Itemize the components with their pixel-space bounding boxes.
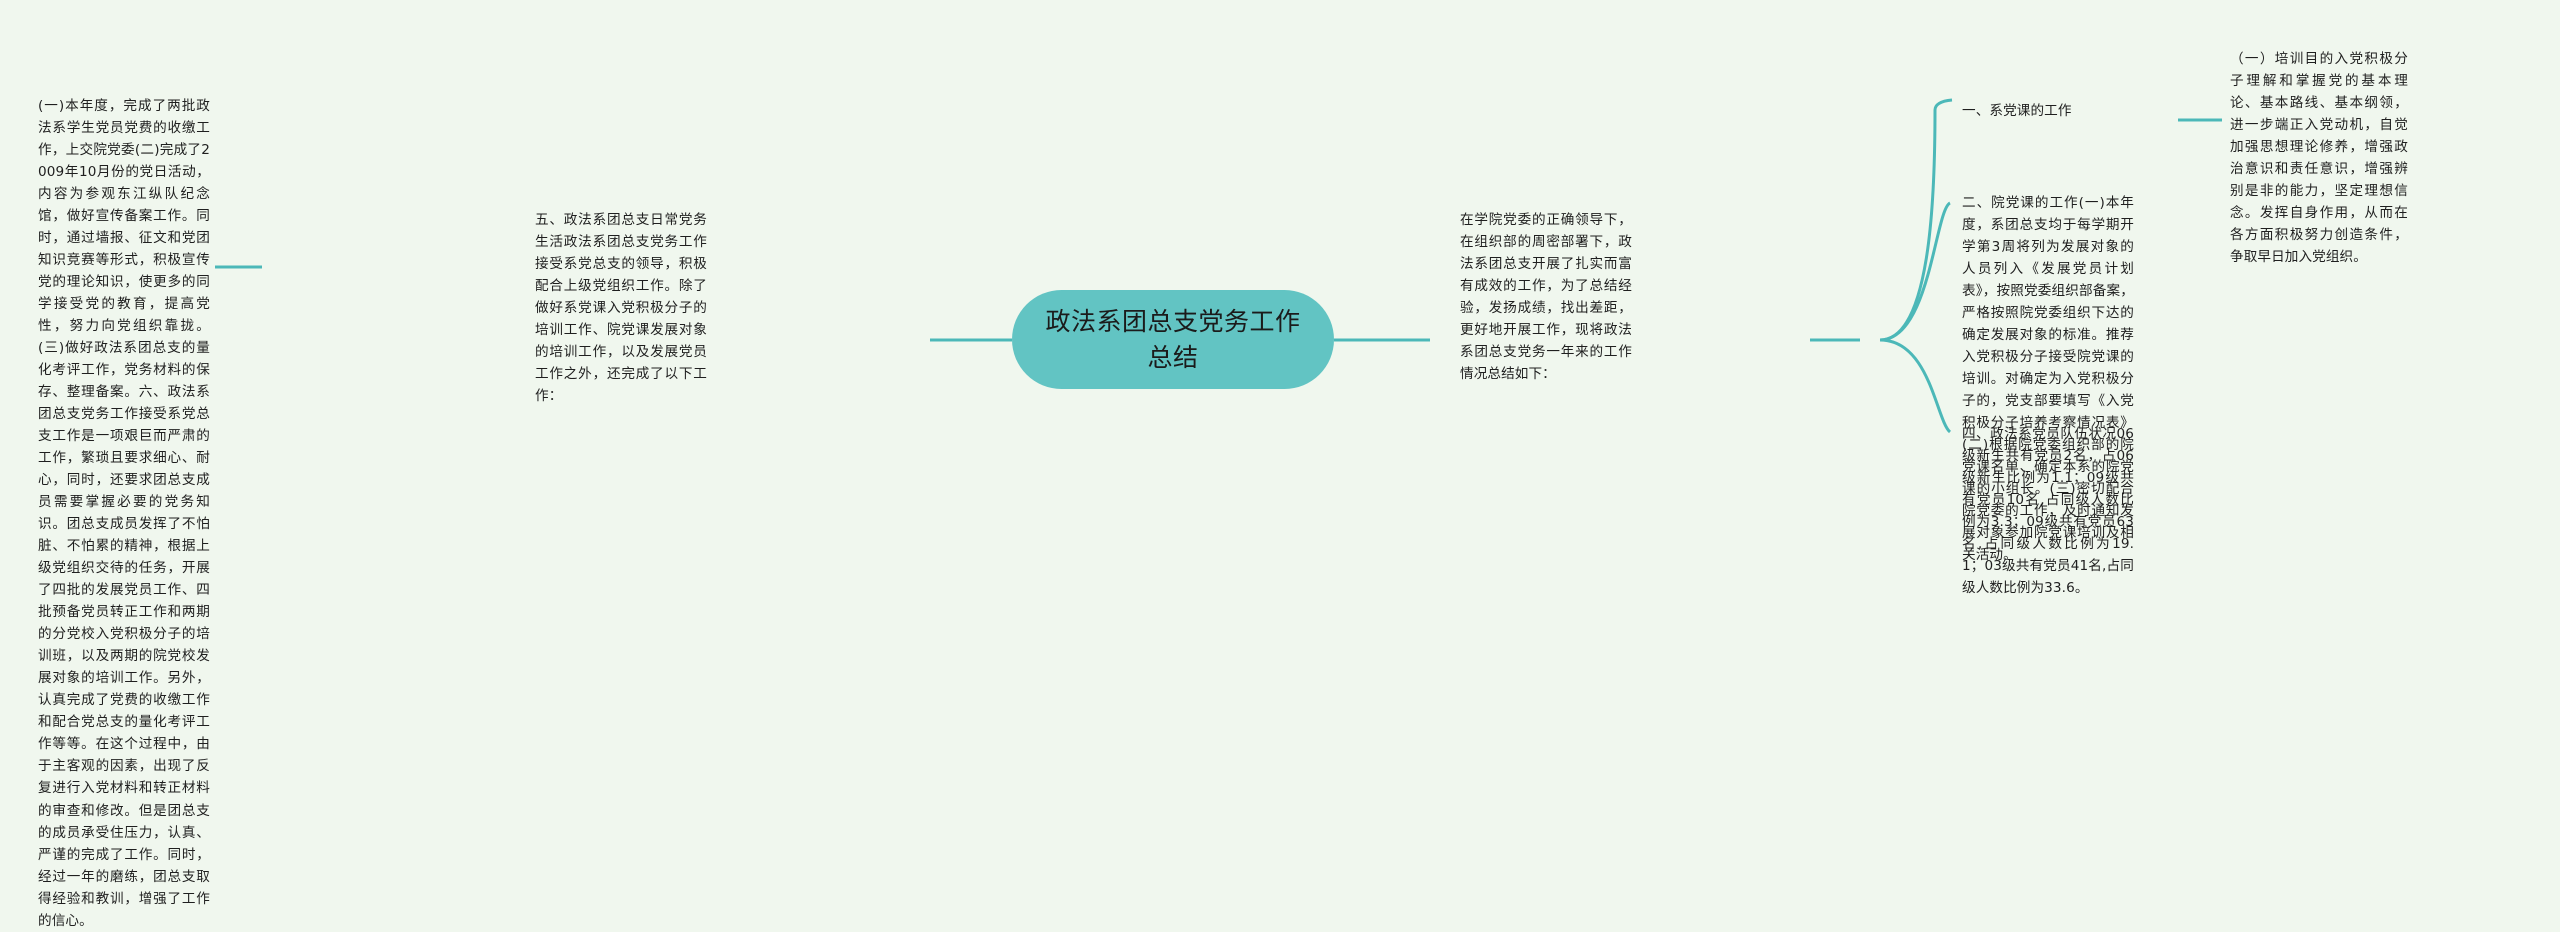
mindmap-canvas: 政法系团总支党务工作总结 (一)本年度，完成了两批政法系学生党员党费的收缴工作，…: [0, 0, 2560, 679]
center-node-label: 政法系团总支党务工作总结: [1038, 304, 1308, 375]
center-node[interactable]: 政法系团总支党务工作总结: [1012, 290, 1334, 389]
branch-curve-right-3: [1880, 203, 1950, 340]
branch-curve-right-1: [1880, 110, 1935, 340]
branch-text-left-outer[interactable]: (一)本年度，完成了两批政法系学生党员党费的收缴工作，上交院党委(二)完成了20…: [38, 95, 210, 932]
branch-curve-right-4: [1880, 340, 1950, 432]
branch-text-right-inner[interactable]: 在学院党委的正确领导下，在组织部的周密部署下，政法系团总支开展了扎实而富有成效的…: [1460, 209, 1632, 385]
branch-curve-right-2: [1935, 100, 1952, 110]
branch-text-right-outer[interactable]: （一）培训目的入党积极分子理解和掌握党的基本理论、基本路线、基本纲领，进一步端正…: [2230, 48, 2408, 268]
branch-text-right-3[interactable]: 四、政法系党员队伍状况06级新生共有党员2名，占06级新生比例为1.1；09级共…: [1962, 423, 2134, 599]
branch-text-left-inner[interactable]: 五、政法系团总支日常党务生活政法系团总支党务工作接受系党总支的领导，积极配合上级…: [535, 209, 707, 407]
branch-text-right-1[interactable]: 一、系党课的工作: [1962, 100, 2134, 122]
